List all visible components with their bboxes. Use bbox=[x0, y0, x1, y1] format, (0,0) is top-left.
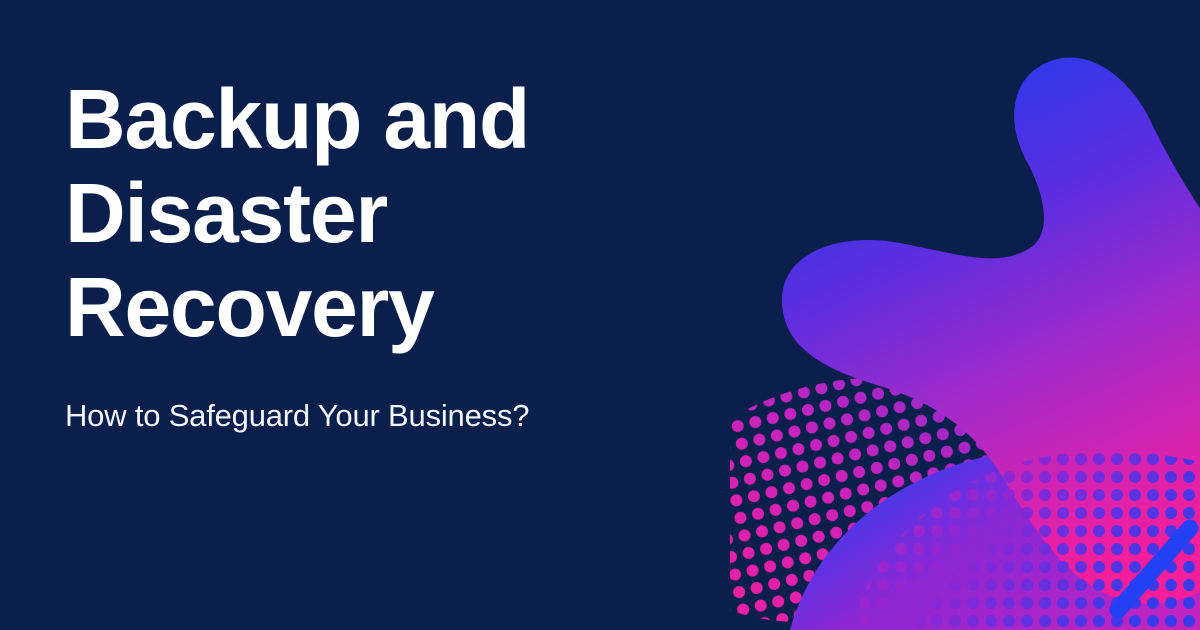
hero-text-block: Backup and Disaster Recovery How to Safe… bbox=[65, 72, 705, 434]
halftone-dots-right bbox=[810, 430, 1200, 630]
main-blob bbox=[782, 57, 1200, 603]
page-subtitle: How to Safeguard Your Business? bbox=[65, 398, 705, 434]
plus-icon bbox=[894, 67, 956, 130]
page-title: Backup and Disaster Recovery bbox=[65, 72, 705, 354]
halftone-dots-left bbox=[730, 350, 1110, 630]
hero-banner: Backup and Disaster Recovery How to Safe… bbox=[0, 0, 1200, 630]
decorative-graphic bbox=[730, 0, 1200, 630]
diagonal-bar bbox=[1118, 528, 1190, 610]
under-blob bbox=[790, 448, 1200, 630]
